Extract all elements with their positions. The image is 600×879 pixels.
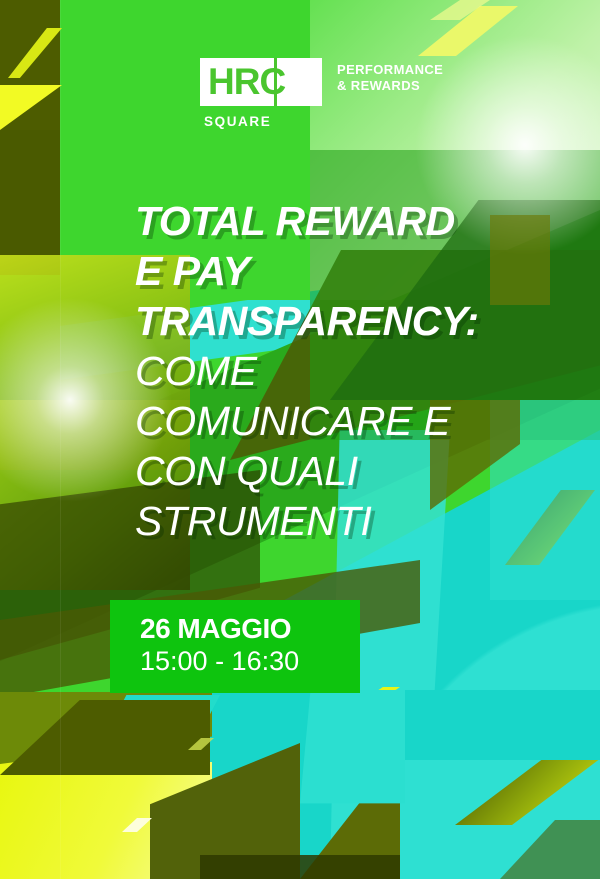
logo-mark-box: HRC <box>200 58 322 106</box>
headline-line-5: COMUNICARE E <box>135 396 555 446</box>
event-time-label: 15:00 - 16:30 <box>140 646 299 677</box>
event-date-card: 26 MAGGIO 15:00 - 16:30 <box>110 600 360 693</box>
headline-line-3: TRANSPARENCY: <box>135 296 555 346</box>
brand-logo[interactable]: HRC SQUARE PERFORMANCE & REWARDS <box>200 58 430 143</box>
logo-tagline-line-2: & REWARDS <box>337 78 432 94</box>
headline-line-4: COME <box>135 346 555 396</box>
headline-line-2: E PAY <box>135 246 555 296</box>
headline-line-1: TOTAL REWARD <box>135 196 555 246</box>
logo-tagline-line-1: PERFORMANCE <box>337 62 432 78</box>
logo-tagline: PERFORMANCE & REWARDS <box>337 62 432 94</box>
headline-line-7: STRUMENTI <box>135 496 555 546</box>
logo-mark-text: HRC <box>208 62 318 102</box>
logo-sub-text: SQUARE <box>204 114 271 129</box>
event-poster: HRC SQUARE PERFORMANCE & REWARDS TOTAL R… <box>0 0 600 879</box>
poster-headline: TOTAL REWARD E PAY TRANSPARENCY: COME CO… <box>135 196 555 546</box>
event-date-label: 26 MAGGIO <box>140 613 291 645</box>
headline-line-6: CON QUALI <box>135 446 555 496</box>
logo-divider <box>274 58 277 106</box>
